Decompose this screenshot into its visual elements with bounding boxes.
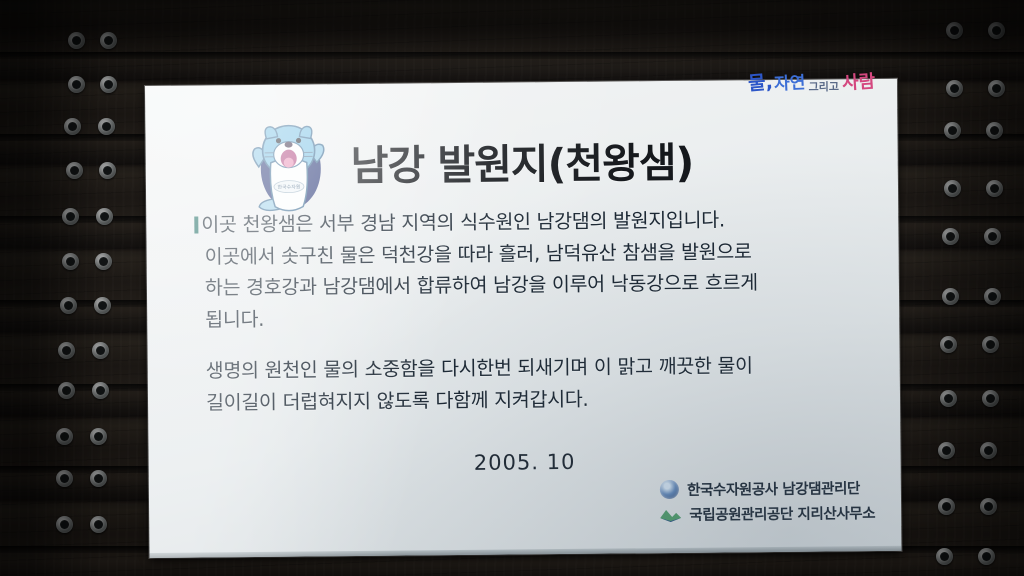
paragraph-lead-bar	[194, 216, 198, 233]
paragraph-1: 이곳 천왕샘은 서부 경남 지역의 식수원인 남강댐의 발원지입니다. 이곳에서…	[194, 203, 855, 336]
water-otter-mascot-icon: 한국수자원	[240, 110, 337, 215]
paragraph-2: 생명의 원천인 물의 소중함을 다시한번 되새기며 이 맑고 깨끗한 물이 길이…	[196, 350, 857, 419]
green-mountain-logo-icon	[660, 507, 681, 521]
authority-name-1: 한국수자원공사 남강댐관리단	[687, 477, 860, 500]
sign-date: 2005. 10	[149, 447, 901, 478]
issuing-authorities: 한국수자원공사 남강댐관리단 국립공원관리공단 지리산사무소	[660, 477, 875, 529]
handwriting-and: 그리고	[808, 78, 839, 94]
handwriting-nature: 자연	[774, 68, 806, 94]
p1-line-1: 이곳 천왕샘은 서부 경남 지역의 식수원인 남강댐의 발원지입니다.	[201, 208, 725, 236]
handwriting-water: 물,	[746, 67, 773, 96]
p1-line-4: 됩니다.	[195, 298, 855, 336]
handwritten-slogan: 물,자연그리고사람	[747, 67, 875, 95]
p1-line-3: 하는 경호강과 남강댐에서 합류하여 남강을 이루어 낙동강으로 흐르게	[195, 266, 855, 304]
handwriting-people: 사람	[841, 67, 876, 95]
page-title: 남강 발원지(천왕샘)	[350, 129, 693, 192]
authority-name-2: 국립공원관리공단 지리산사무소	[689, 502, 875, 525]
screenshot-root: 물,자연그리고사람	[0, 0, 1024, 576]
authority-row: 한국수자원공사 남강댐관리단	[660, 477, 875, 500]
signboard-body: 이곳 천왕샘은 서부 경남 지역의 식수원인 남강댐의 발원지입니다. 이곳에서…	[194, 203, 856, 419]
water-drop-globe-logo-icon	[660, 480, 679, 499]
svg-text:한국수자원: 한국수자원	[277, 184, 300, 191]
information-signboard: 물,자연그리고사람	[145, 79, 901, 558]
p2-line-2: 길이길이 더럽혀지지 않도록 다함께 지켜갑시다.	[196, 381, 856, 419]
signboard-header: 한국수자원 남강 발원지(천왕샘)	[240, 107, 693, 215]
authority-row: 국립공원관리공단 지리산사무소	[660, 502, 875, 525]
